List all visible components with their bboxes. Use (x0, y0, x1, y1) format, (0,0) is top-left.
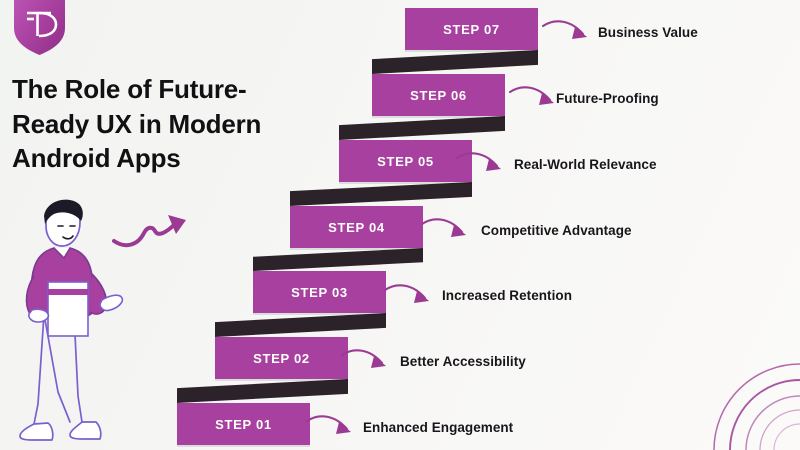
step-outcome-label: Competitive Advantage (481, 223, 632, 238)
step-outcome-label: Better Accessibility (400, 354, 526, 369)
step-block-step-06[interactable]: STEP 06 (372, 74, 505, 116)
slide-canvas: The Role of Future- Ready UX in Modern A… (0, 0, 800, 450)
step-outcome-label: Future-Proofing (556, 91, 659, 106)
step-block-step-04[interactable]: STEP 04 (290, 206, 423, 248)
step-outcome-label: Business Value (598, 25, 698, 40)
step-outcome-label: Real-World Relevance (514, 157, 657, 172)
step-label: STEP 05 (339, 154, 472, 169)
step-connector (339, 116, 505, 140)
step-label: STEP 07 (405, 22, 538, 37)
step-label: STEP 04 (290, 220, 423, 235)
step-outcome-label: Increased Retention (442, 288, 572, 303)
step-block-step-03[interactable]: STEP 03 (253, 271, 386, 313)
curved-arrow-icon (383, 278, 445, 312)
step-block-step-01[interactable]: STEP 01 (177, 403, 310, 445)
step-label: STEP 06 (372, 88, 505, 103)
step-connector (215, 313, 386, 337)
step-connector (177, 379, 348, 403)
step-connector (290, 182, 472, 206)
step-block-step-07[interactable]: STEP 07 (405, 8, 538, 50)
curved-arrow-icon (541, 14, 603, 48)
step-connector (253, 248, 423, 271)
curved-arrow-icon (305, 409, 367, 443)
curved-arrow-icon (340, 343, 402, 377)
step-outcome-label: Enhanced Engagement (363, 420, 513, 435)
staircase-diagram: STEP 07Business ValueSTEP 06Future-Proof… (0, 0, 800, 450)
step-label: STEP 01 (177, 417, 310, 432)
step-block-step-02[interactable]: STEP 02 (215, 337, 348, 379)
step-label: STEP 02 (215, 351, 348, 366)
step-label: STEP 03 (253, 285, 386, 300)
step-block-step-05[interactable]: STEP 05 (339, 140, 472, 182)
step-connector (372, 50, 538, 74)
curved-arrow-icon (455, 146, 517, 180)
curved-arrow-icon (420, 212, 482, 246)
